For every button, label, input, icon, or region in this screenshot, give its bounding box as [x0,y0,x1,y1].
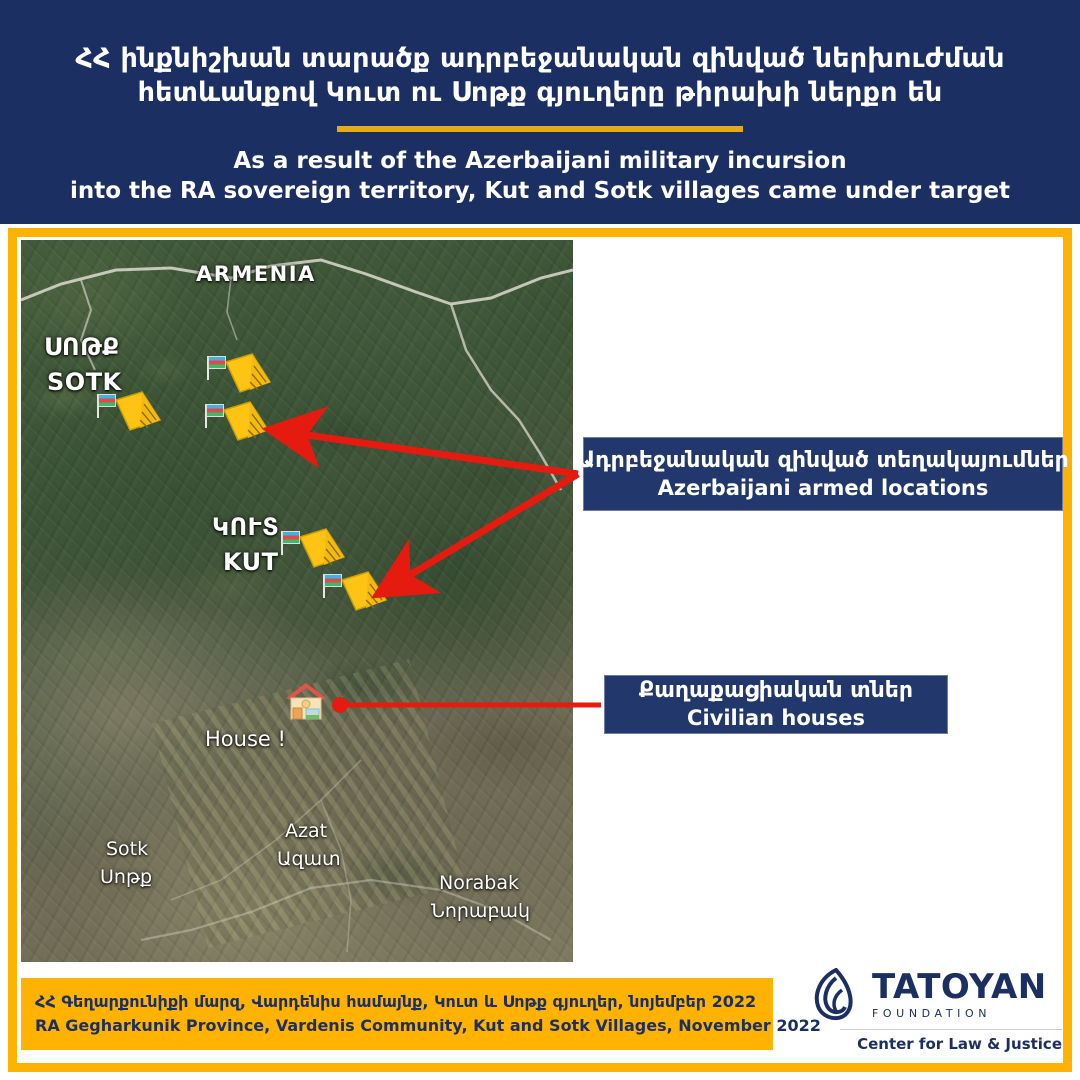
tent-glyph-icon [338,570,390,614]
map-label-norabak-hy: Նորաբակ [431,900,530,922]
infographic-poster: ՀՀ ինքնիշխան տարածք ադրբեջանական զինված … [0,0,1080,1080]
footer-caption-en: RA Gegharkunik Province, Vardenis Commun… [35,1014,773,1038]
map-label-sotk-hy: ՍՈԹՔ [44,330,120,364]
logo-subtitle: FOUNDATION [872,1007,1047,1020]
tent-glyph-icon [220,400,272,444]
house-marker-icon[interactable] [284,681,328,721]
tent-marker-icon[interactable] [112,390,164,434]
map-label-kut-en: KUT [223,545,279,579]
logo-divider [840,1029,1062,1030]
title-armenian: ՀՀ ինքնիշխան տարածք ադրբեջանական զինված … [75,42,1004,110]
map-label-azat-en: Azat [285,820,327,842]
title-english-line2: into the RA sovereign territory, Kut and… [70,176,1010,206]
logo-brand: TATOYAN [872,970,1047,1004]
map-label-kut-hy: ԿՈՒՏ [212,510,279,544]
tent-marker-icon[interactable] [220,400,272,444]
map-label-azat-hy: Ազատ [277,848,341,870]
azerbaijan-flag-icon [206,404,224,417]
map-label-norabak-en: Norabak [439,872,519,894]
legend-armed-label-en: Azerbaijani armed locations [658,475,989,502]
title-armenian-line1: ՀՀ ինքնիշխան տարածք ադրբեջանական զինված … [75,42,1004,76]
leaf-emblem-icon [812,968,860,1022]
azerbaijan-flag-icon [282,531,300,544]
tent-glyph-icon [296,527,348,571]
legend-civil-label-en: Civilian houses [687,705,865,732]
azerbaijan-flag-icon [208,356,226,369]
tent-marker-icon[interactable] [296,527,348,571]
azerbaijan-flag-icon [324,574,342,587]
title-english: As a result of the Azerbaijani military … [70,146,1010,206]
title-divider [337,126,743,132]
map-label-house-callout: House ! [205,727,286,751]
logo-wordmark: TATOYAN FOUNDATION [872,970,1047,1020]
map-label-sotk-place-hy: Սոթք [100,866,152,888]
satellite-map: ARMENIA ՍՈԹՔ SOTK ԿՈՒՏ KUT House ! Sotk … [21,240,573,962]
legend-civil-label-hy: Քաղաքացիական տներ [639,677,913,705]
map-label-country: ARMENIA [196,262,316,286]
house-glyph-icon [284,681,328,721]
logo-tagline: Center for Law & Justice [812,1035,1062,1053]
tent-glyph-icon [112,390,164,434]
tent-glyph-icon [222,352,274,396]
map-label-sotk-place-en: Sotk [106,838,148,860]
legend-civilian-houses[interactable]: Քաղաքացիական տներ Civilian houses [604,675,948,734]
tent-marker-icon[interactable] [222,352,274,396]
header-banner: ՀՀ ինքնիշխան տարածք ադրբեջանական զինված … [0,0,1080,224]
title-english-line1: As a result of the Azerbaijani military … [70,146,1010,176]
legend-azerbaijani-armed-locations[interactable]: Ադրբեջանական զինված տեղակայումներ Azerba… [583,437,1063,511]
tent-marker-icon[interactable] [338,570,390,614]
footer-caption-bar: ՀՀ Գեղարքունիքի մարզ, Վարդենիս համայնք, … [21,978,773,1050]
footer-caption-hy: ՀՀ Գեղարքունիքի մարզ, Վարդենիս համայնք, … [35,990,773,1014]
azerbaijan-flag-icon [98,394,116,407]
tatoyan-foundation-logo[interactable]: TATOYAN FOUNDATION Center for Law & Just… [812,968,1062,1060]
title-armenian-line2: հետևանքով Կուտ ու Սոթք գյուղերը թիրախի ն… [75,76,1004,110]
legend-armed-label-hy: Ադրբեջանական զինված տեղակայումներ [577,447,1069,475]
logo-row: TATOYAN FOUNDATION [812,968,1062,1022]
